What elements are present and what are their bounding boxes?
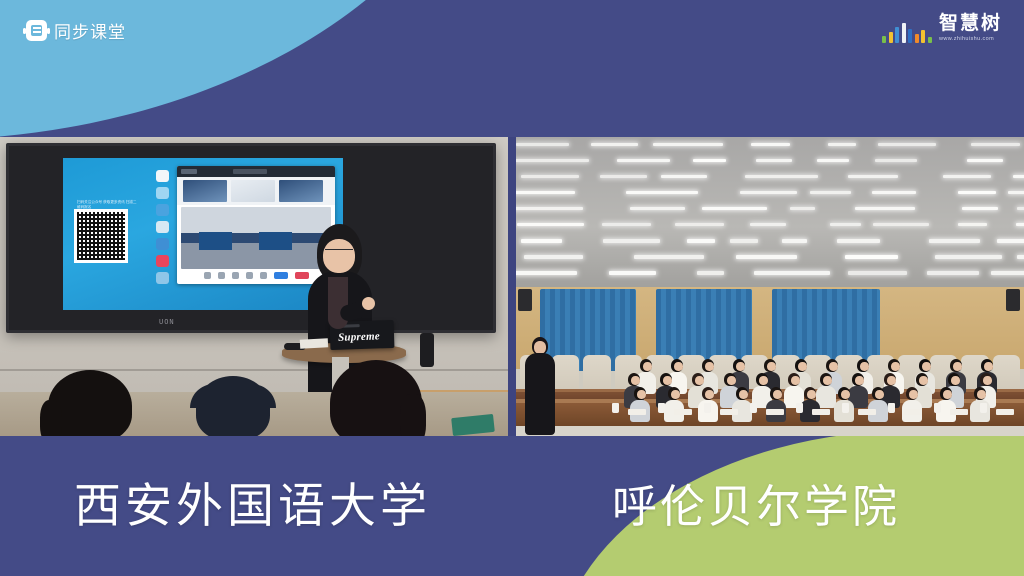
standing-person bbox=[522, 337, 558, 435]
paper bbox=[766, 409, 784, 415]
audience-head bbox=[330, 360, 422, 436]
broadcast-stage: 同步课堂 智慧树 www.zhihuishu.com 扫码关注公众号 获取更多资… bbox=[0, 0, 1024, 576]
cup bbox=[842, 403, 849, 413]
caption-bar: 西安外国语大学 呼伦贝尔学院 bbox=[0, 436, 1024, 576]
audience-head bbox=[48, 370, 132, 436]
glasses-icon bbox=[325, 249, 353, 256]
app-dock bbox=[151, 164, 173, 304]
speaker-box bbox=[1006, 289, 1020, 311]
audience-person bbox=[902, 387, 922, 422]
ceiling-lights bbox=[516, 137, 1024, 287]
brand-sync-classroom-label: 同步课堂 bbox=[54, 18, 126, 43]
paper bbox=[812, 409, 830, 415]
paper bbox=[858, 409, 876, 415]
cup bbox=[612, 403, 619, 413]
paper bbox=[996, 409, 1014, 415]
brand-zhihuishu-url: www.zhihuishu.com bbox=[939, 35, 994, 43]
cup bbox=[704, 403, 711, 413]
qr-caption: 扫码关注公众号 获取更多资讯 扫描二维码报名 bbox=[77, 200, 137, 209]
brand-sync-classroom[interactable]: 同步课堂 bbox=[26, 18, 126, 43]
paper bbox=[950, 409, 968, 415]
mic-stand bbox=[420, 333, 434, 367]
cup bbox=[934, 403, 941, 413]
paper bbox=[904, 409, 922, 415]
cup bbox=[658, 403, 665, 413]
front-desk bbox=[0, 392, 508, 436]
audience-person bbox=[630, 387, 650, 422]
header-bar: 同步课堂 智慧树 www.zhihuishu.com bbox=[0, 0, 1024, 68]
floor bbox=[516, 426, 1024, 436]
cup bbox=[888, 403, 895, 413]
cup bbox=[750, 403, 757, 413]
speaker-box bbox=[518, 289, 532, 311]
brand-zhihuishu[interactable]: 智慧树 www.zhihuishu.com bbox=[882, 14, 1002, 43]
brand-zhihuishu-label: 智慧树 bbox=[939, 14, 1002, 34]
audience-person bbox=[800, 387, 820, 422]
audience-person bbox=[766, 387, 786, 422]
classroom-logo-icon bbox=[26, 20, 47, 41]
caption-left-school: 西安外国语大学 bbox=[74, 478, 431, 534]
laptop-sticker-label: Supreme bbox=[338, 330, 380, 343]
cup bbox=[980, 403, 987, 413]
display-brand-label: UON bbox=[159, 318, 175, 326]
audience-person bbox=[732, 387, 752, 422]
notebook bbox=[451, 414, 495, 436]
qr-code-icon bbox=[77, 212, 125, 260]
cup bbox=[796, 403, 803, 413]
lecture-hall bbox=[516, 137, 1024, 436]
audience-person bbox=[664, 387, 684, 422]
video-grid: 扫码关注公众号 获取更多资讯 扫描二维码报名 UON bbox=[0, 137, 1024, 436]
panel-divider bbox=[508, 137, 516, 436]
audience-person bbox=[868, 387, 888, 422]
caption-right-school: 呼伦贝尔学院 bbox=[612, 480, 900, 534]
paper bbox=[628, 409, 646, 415]
bar-chart-logo-icon bbox=[882, 21, 932, 43]
paper bbox=[674, 409, 692, 415]
wall-display-board: 扫码关注公众号 获取更多资讯 扫描二维码报名 UON bbox=[6, 143, 496, 333]
video-panel-audience[interactable] bbox=[516, 137, 1024, 436]
video-panel-presenter[interactable]: 扫码关注公众号 获取更多资讯 扫描二维码报名 UON bbox=[0, 137, 508, 436]
paper bbox=[720, 409, 738, 415]
qr-block: 扫码关注公众号 获取更多资讯 扫描二维码报名 bbox=[77, 200, 137, 260]
audience-head bbox=[196, 376, 270, 436]
